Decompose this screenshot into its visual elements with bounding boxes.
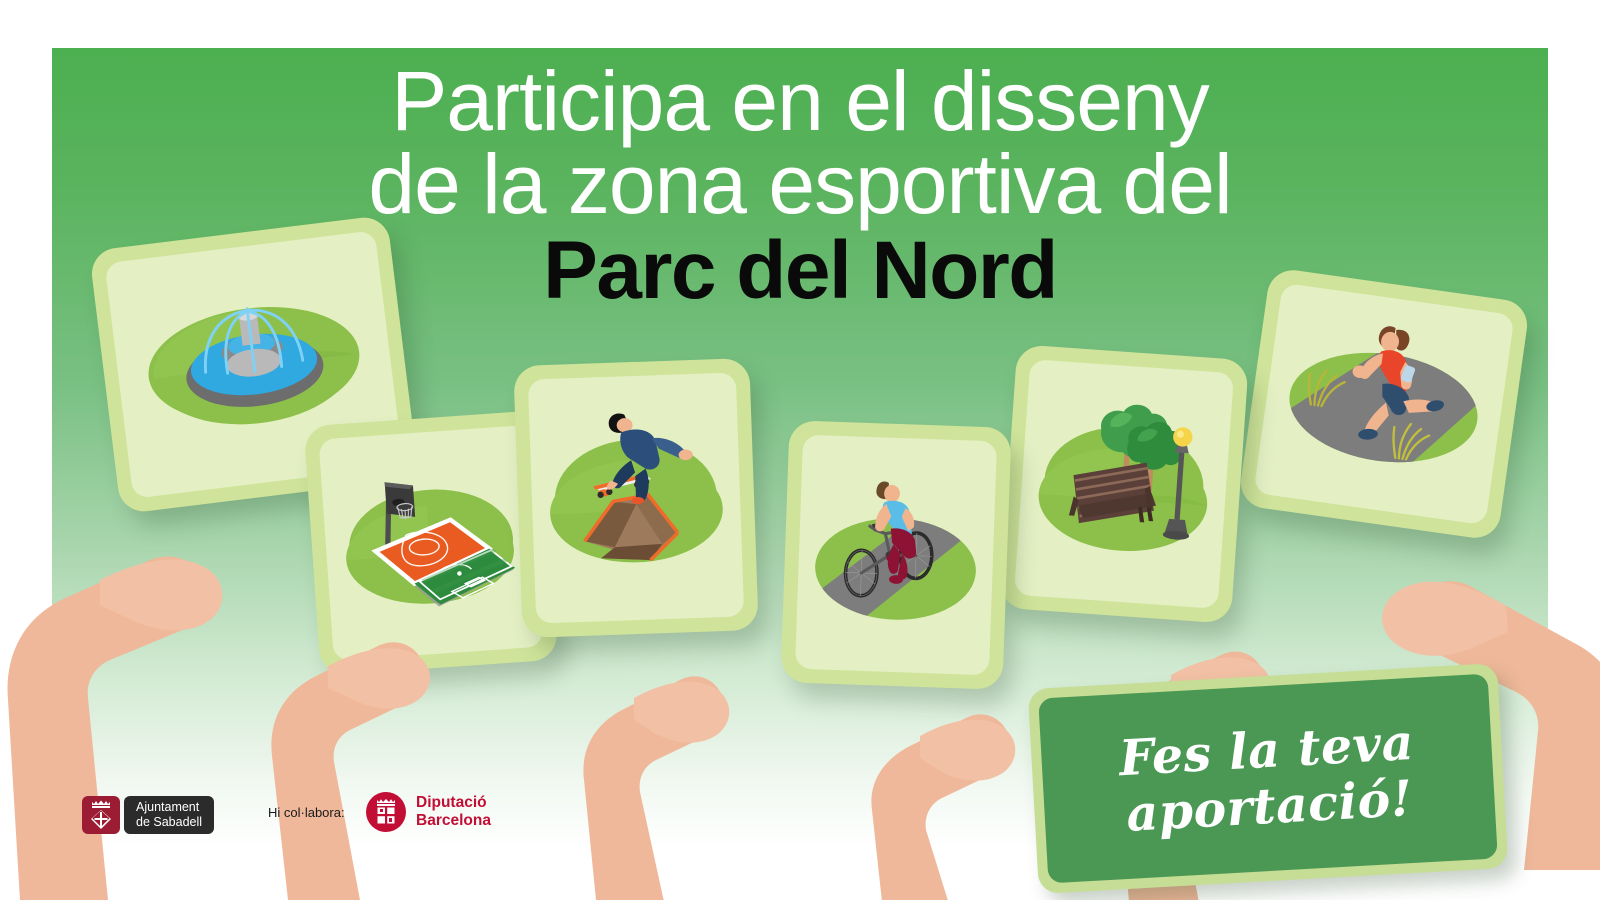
diputacio-line-1: Diputació: [416, 794, 491, 812]
ajuntament-nameplate: Ajuntament de Sabadell: [124, 796, 214, 834]
ajuntament-de-sabadell-logo[interactable]: Ajuntament de Sabadell: [82, 796, 214, 834]
poster-canvas: Participa en el disseny de la zona espor…: [0, 0, 1600, 900]
sabadell-shield-icon: [82, 796, 120, 834]
diputacio-barcelona-logo[interactable]: Diputació Barcelona: [366, 792, 491, 832]
collaborate-label: Hi col·labora:: [268, 805, 345, 820]
diputacio-line-2: Barcelona: [416, 812, 491, 830]
card-runner[interactable]: [1238, 267, 1531, 541]
footer-logos: Ajuntament de Sabadell Hi col·labora:: [0, 780, 1600, 870]
running-track-icon: [1253, 283, 1514, 526]
diputacio-crest-icon: [366, 792, 406, 832]
ajuntament-line-2: de Sabadell: [136, 815, 202, 830]
ajuntament-line-1: Ajuntament: [136, 800, 202, 815]
diputacio-wordmark: Diputació Barcelona: [416, 794, 491, 830]
card-runner-inner: [1253, 283, 1514, 526]
